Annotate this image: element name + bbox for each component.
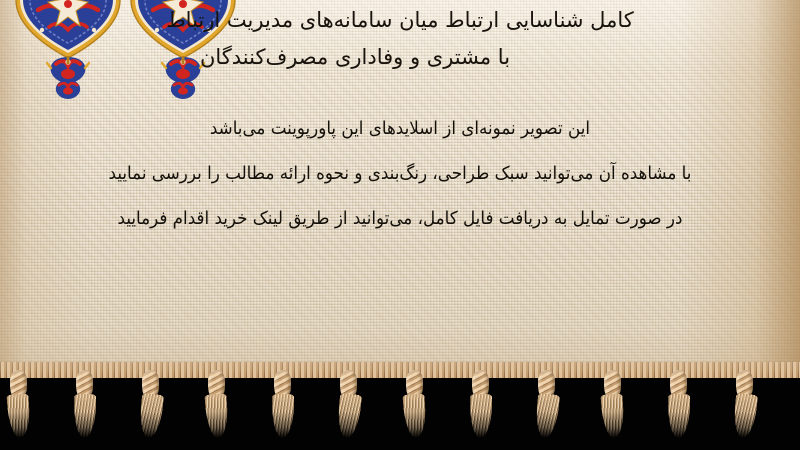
- tassel-brush: [204, 393, 229, 439]
- tassel-brush: [534, 393, 560, 439]
- tassel-brush: [402, 393, 427, 439]
- slide-title-line-2: با مشتری و وفاداری مصرف‌کنندگان: [10, 39, 790, 76]
- slide-body: این تصویر نمونه‌ای از اسلایدهای این پاور…: [8, 106, 792, 241]
- slide-text-layer: کامل شناسایی ارتباط میان سامانه‌های مدیر…: [0, 0, 800, 372]
- slide-body-line-1: این تصویر نمونه‌ای از اسلایدهای این پاور…: [35, 106, 764, 151]
- carpet-tassel: [140, 370, 162, 440]
- tassel-brush: [336, 393, 362, 439]
- carpet-tassel: [206, 370, 228, 440]
- tassel-brush: [138, 393, 164, 439]
- carpet-fringe-band: [0, 362, 800, 450]
- tassel-brush: [6, 393, 31, 439]
- slide-title-line-1: کامل شناسایی ارتباط میان سامانه‌های مدیر…: [10, 2, 790, 39]
- slide-title: کامل شناسایی ارتباط میان سامانه‌های مدیر…: [10, 2, 790, 76]
- carpet-tassel: [404, 370, 426, 440]
- carpet-tassel: [536, 370, 558, 440]
- tassel-brush: [272, 394, 294, 438]
- carpet-tassel: [74, 370, 96, 440]
- tassel-brush: [668, 394, 690, 438]
- carpet-tassel: [734, 370, 756, 440]
- tassel-brush: [470, 394, 492, 438]
- carpet-tassel: [272, 370, 294, 440]
- slide-canvas: کامل شناسایی ارتباط میان سامانه‌های مدیر…: [0, 0, 800, 450]
- carpet-tassel: [602, 370, 624, 440]
- carpet-tassel: [470, 370, 492, 440]
- tassel-brush: [600, 393, 625, 439]
- slide-body-line-2: با مشاهده آن می‌توانید سبک طراحی، رنگ‌بن…: [35, 151, 764, 196]
- tassel-brush: [732, 393, 758, 439]
- slide-body-line-3: در صورت تمایل به دریافت فایل کامل، می‌تو…: [35, 196, 764, 241]
- tassel-brush: [74, 394, 96, 438]
- carpet-tassel: [8, 370, 30, 440]
- carpet-tassel: [668, 370, 690, 440]
- carpet-tassel: [338, 370, 360, 440]
